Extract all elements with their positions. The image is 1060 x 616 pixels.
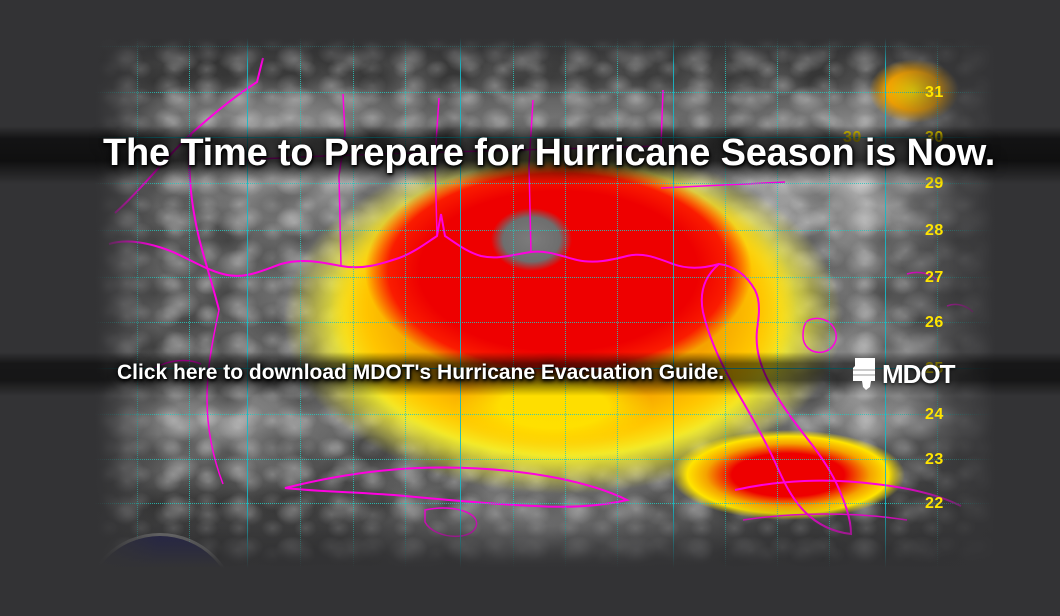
latitude-label: 22 — [925, 495, 944, 513]
grid-line-vertical — [137, 38, 138, 568]
grid-line-vertical — [405, 38, 406, 568]
latitude-label: 26 — [925, 314, 944, 332]
latitude-label: 23 — [925, 451, 944, 469]
lat-lon-grid — [95, 38, 995, 568]
grid-line-vertical-major — [673, 38, 674, 568]
latitude-label: 29 — [925, 175, 944, 193]
grid-line-vertical-major — [885, 38, 886, 568]
grid-line-vertical — [725, 38, 726, 568]
grid-line-horizontal — [95, 414, 995, 415]
latitude-label: 28 — [925, 222, 944, 240]
grid-line-vertical-major — [247, 38, 248, 568]
grid-line-horizontal — [95, 230, 995, 231]
grid-line-horizontal — [95, 322, 995, 323]
grid-line-horizontal — [95, 46, 995, 47]
grid-line-vertical — [617, 38, 618, 568]
latitude-label: 31 — [925, 84, 944, 102]
grid-line-horizontal — [95, 459, 995, 460]
latitude-label: 24 — [925, 406, 944, 424]
grid-line-vertical — [937, 38, 938, 568]
grid-line-vertical-major — [460, 38, 461, 568]
grid-line-vertical — [300, 38, 301, 568]
grid-line-vertical — [513, 38, 514, 568]
grid-line-horizontal — [95, 92, 995, 93]
mdot-wordmark: MDOT — [882, 361, 955, 387]
grid-line-vertical — [189, 38, 190, 568]
grid-line-vertical — [777, 38, 778, 568]
download-guide-link[interactable]: Click here to download MDOT's Hurricane … — [117, 361, 724, 385]
grid-line-horizontal — [95, 183, 995, 184]
hurricane-banner[interactable]: 31 30 29 28 27 26 25 24 23 22 30 The Tim… — [0, 0, 1060, 616]
grid-line-horizontal — [95, 277, 995, 278]
grid-line-vertical — [829, 38, 830, 568]
grid-line-horizontal — [95, 503, 995, 504]
page-title: The Time to Prepare for Hurricane Season… — [103, 132, 995, 175]
latitude-label: 27 — [925, 269, 944, 287]
grid-line-vertical — [565, 38, 566, 568]
satellite-image — [95, 38, 995, 568]
mdot-logo[interactable]: MDOT — [849, 357, 955, 391]
grid-line-vertical — [353, 38, 354, 568]
mississippi-state-outline-icon — [849, 357, 879, 391]
